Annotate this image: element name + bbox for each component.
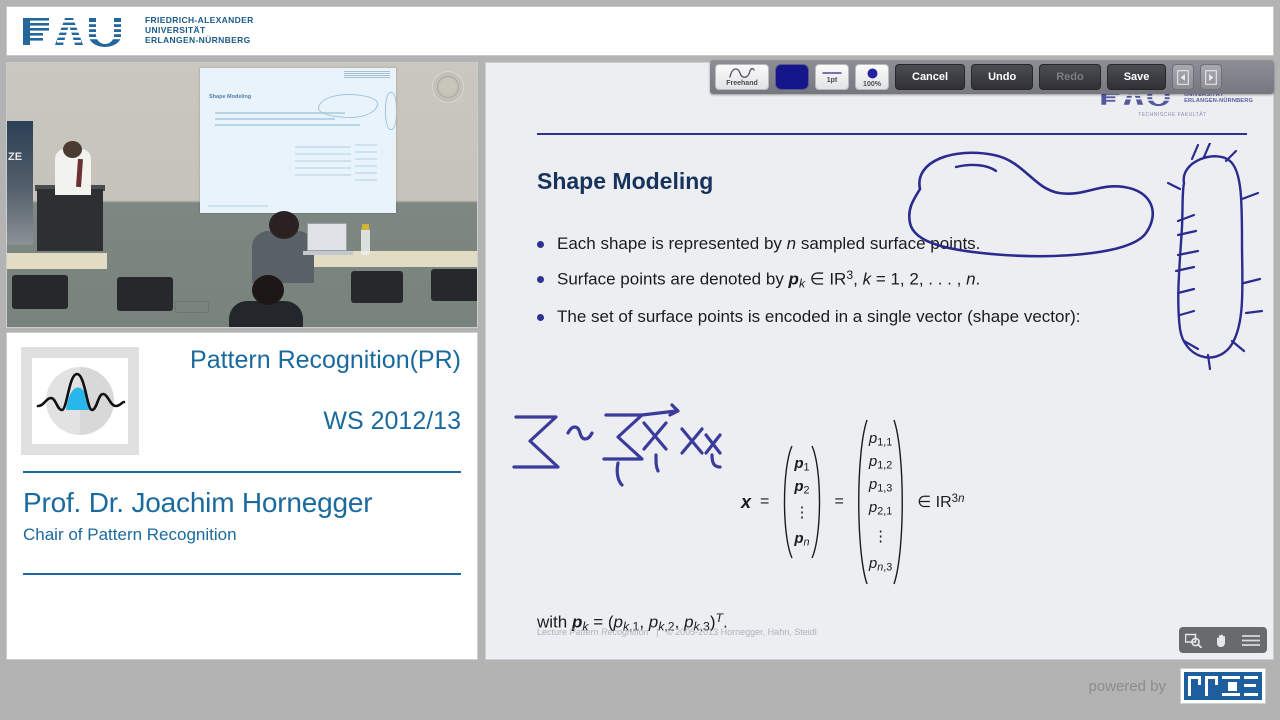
student-foreground-head bbox=[252, 275, 284, 305]
formula-lhs: x bbox=[741, 492, 751, 513]
undo-label: Undo bbox=[988, 71, 1016, 83]
hand-pan-icon[interactable] bbox=[1214, 632, 1229, 649]
chair-far-right bbox=[431, 269, 478, 301]
opacity-circle-icon bbox=[866, 67, 879, 80]
cancel-label: Cancel bbox=[912, 71, 948, 83]
bullet-dot-icon bbox=[537, 314, 544, 321]
vector-entry: ⋮ bbox=[794, 499, 809, 528]
projected-bean-shape bbox=[318, 94, 378, 118]
fau-wordmark: FRIEDRICH-ALEXANDER UNIVERSITÄT ERLANGEN… bbox=[145, 16, 254, 45]
vector-entry: p2 bbox=[794, 476, 809, 499]
chair-front-left bbox=[12, 275, 68, 309]
line-width-button[interactable]: 1pt bbox=[815, 64, 849, 90]
vector-entry: p1 bbox=[794, 453, 809, 476]
prev-page-button[interactable] bbox=[1172, 64, 1194, 90]
vector-entry: p1,3 bbox=[869, 474, 892, 497]
slide-brand-line-3: ERLANGEN-NÜRNBERG bbox=[1184, 98, 1255, 104]
bullet-dot-icon bbox=[537, 276, 544, 283]
save-label: Save bbox=[1124, 71, 1150, 83]
formula-equals-1: = bbox=[760, 493, 769, 511]
projected-ticked-shape bbox=[385, 92, 396, 130]
chair-front-mid bbox=[117, 277, 173, 311]
projected-fau-logo bbox=[344, 71, 390, 78]
roll-up-banner bbox=[7, 121, 33, 245]
annotation-toolbar[interactable]: Freehand 1pt 100% Cancel Undo Redo Save bbox=[710, 60, 1274, 94]
vector-entry: p1,2 bbox=[869, 451, 892, 474]
next-page-icon bbox=[1205, 70, 1217, 85]
freehand-tool-label: Freehand bbox=[726, 80, 758, 87]
bullet-text: Surface points are denoted by pk ∈ IR3, … bbox=[557, 268, 980, 292]
water-bottle bbox=[361, 229, 370, 255]
course-term: WS 2012/13 bbox=[139, 407, 461, 436]
laptop-base bbox=[303, 251, 353, 255]
projected-matrix-a bbox=[295, 146, 351, 180]
footer-lecture-name: Pattern Recognition bbox=[570, 627, 649, 637]
bullet-item: Surface points are denoted by pk ∈ IR3, … bbox=[537, 268, 1097, 292]
desk-left bbox=[7, 253, 107, 269]
powered-by-label: powered by bbox=[1088, 678, 1166, 695]
footer-prefix: Lecture bbox=[537, 627, 567, 637]
course-info-panel: Pattern Recognition(PR) WS 2012/13 Prof.… bbox=[6, 332, 478, 660]
projected-footer bbox=[208, 205, 268, 207]
fau-logo bbox=[21, 15, 133, 47]
projected-matrix-b bbox=[355, 144, 377, 184]
vector-2-entries: p1,1 p1,2 p1,3 p2,1 ⋮ pn,3 bbox=[869, 428, 892, 576]
freehand-tool-button[interactable]: Freehand bbox=[715, 64, 769, 90]
vector-entry: p1,1 bbox=[869, 428, 892, 451]
page-header: FRIEDRICH-ALEXANDER UNIVERSITÄT ERLANGEN… bbox=[6, 6, 1274, 56]
rrze-logo-icon bbox=[1180, 668, 1266, 704]
vector-1-entries: p1 p2 ⋮ pn bbox=[794, 453, 809, 551]
zoom-region-icon[interactable] bbox=[1185, 633, 1202, 648]
course-header: Pattern Recognition(PR) WS 2012/13 bbox=[7, 333, 477, 455]
lecturer-name: Prof. Dr. Joachim Hornegger bbox=[7, 473, 477, 519]
vector-2: p1,1 p1,2 p1,3 p2,1 ⋮ pn,3 bbox=[853, 418, 908, 586]
lecturer-chair: Chair of Pattern Recognition bbox=[7, 519, 477, 545]
opacity-label: 100% bbox=[863, 81, 881, 88]
formula-membership: ∈ IR3n bbox=[917, 492, 964, 512]
slide-top-rule bbox=[537, 133, 1247, 135]
banner-text: ZE bbox=[8, 151, 22, 163]
podium bbox=[37, 189, 103, 251]
slide-footer: Lecture Pattern Recognition | © 2005-201… bbox=[537, 627, 817, 637]
fau-line-3: ERLANGEN-NÜRNBERG bbox=[145, 36, 254, 46]
slide-viewer[interactable]: FRIEDRICH-ALEXANDER UNIVERSITÄT ERLANGEN… bbox=[485, 62, 1274, 660]
university-seal-watermark-icon bbox=[432, 71, 464, 103]
vector-entry: pn bbox=[794, 528, 809, 551]
line-width-icon bbox=[822, 70, 842, 76]
vector-entry: p2,1 bbox=[869, 497, 892, 520]
bullet-text: Each shape is represented by n sampled s… bbox=[557, 233, 980, 254]
powered-by-block: powered by bbox=[1088, 668, 1266, 704]
bullet-item: Each shape is represented by n sampled s… bbox=[537, 233, 1097, 254]
fau-brand: FRIEDRICH-ALEXANDER UNIVERSITÄT ERLANGEN… bbox=[21, 15, 254, 47]
slide-bullet-list: Each shape is represented by n sampled s… bbox=[537, 233, 1097, 341]
bullet-text: The set of surface points is encoded in … bbox=[557, 306, 1081, 327]
prev-page-icon bbox=[1177, 70, 1189, 85]
speaker-head bbox=[63, 141, 82, 158]
save-button[interactable]: Save bbox=[1107, 64, 1167, 90]
stroke-color-swatch[interactable] bbox=[775, 64, 809, 90]
course-titles: Pattern Recognition(PR) WS 2012/13 bbox=[139, 347, 463, 436]
next-page-button[interactable] bbox=[1200, 64, 1222, 90]
pattern-recognition-logo-icon bbox=[21, 347, 139, 455]
handwritten-sum-annotation-icon bbox=[506, 393, 736, 493]
divider-bottom bbox=[23, 573, 461, 575]
laptop-screen bbox=[307, 223, 347, 251]
undo-button[interactable]: Undo bbox=[971, 64, 1033, 90]
slide-brand-sub: TECHNISCHE FAKULTÄT bbox=[1138, 112, 1255, 118]
bullet-dot-icon bbox=[537, 241, 544, 248]
course-title: Pattern Recognition(PR) bbox=[139, 347, 461, 373]
app-root: FRIEDRICH-ALEXANDER UNIVERSITÄT ERLANGEN… bbox=[0, 0, 1280, 720]
slide-title: Shape Modeling bbox=[537, 168, 713, 195]
footer-separator: | bbox=[656, 627, 658, 637]
bullet-item: The set of surface points is encoded in … bbox=[537, 306, 1097, 327]
hand-drawn-ticked-shape-icon bbox=[1164, 143, 1274, 373]
student-foreground-body bbox=[229, 301, 303, 328]
line-width-label: 1pt bbox=[827, 77, 838, 84]
footer-copyright: © 2005-2013 Hornegger, Hahn, Steidl bbox=[666, 627, 817, 637]
chair-front-right bbox=[351, 271, 403, 303]
redo-label: Redo bbox=[1056, 71, 1084, 83]
menu-icon[interactable] bbox=[1241, 634, 1261, 647]
slide-tool-cluster[interactable] bbox=[1179, 627, 1267, 653]
cancel-button[interactable]: Cancel bbox=[895, 64, 965, 90]
shape-vector-formula: x = p1 p2 ⋮ pn = p1,1 p1,2 p1,3 p bbox=[741, 418, 964, 586]
projection-screen: Shape Modeling bbox=[200, 68, 396, 213]
formula-equals-2: = bbox=[835, 493, 844, 511]
opacity-button[interactable]: 100% bbox=[855, 64, 889, 90]
freehand-wave-icon bbox=[729, 68, 755, 79]
bottle-cap bbox=[362, 224, 369, 230]
floor-plate bbox=[175, 301, 209, 313]
vector-entry: ⋮ bbox=[873, 520, 888, 553]
redo-button[interactable]: Redo bbox=[1039, 64, 1101, 90]
vector-entry: pn,3 bbox=[869, 553, 892, 576]
vector-1: p1 p2 ⋮ pn bbox=[778, 444, 825, 560]
student-seated-head bbox=[269, 211, 299, 239]
lecture-video[interactable]: ZE Shape Modeling bbox=[6, 62, 478, 328]
